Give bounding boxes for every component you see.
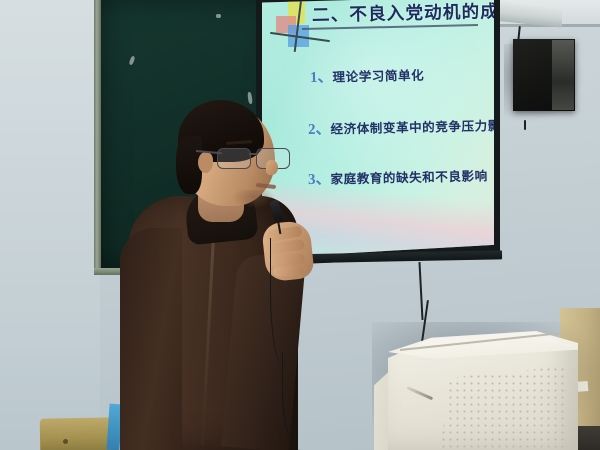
monitor-vent-holes: [440, 366, 568, 450]
wall-cable-right: [524, 120, 526, 130]
bullet-3-number: 3、: [308, 172, 331, 188]
bullet-1-number: 1、: [310, 70, 333, 86]
speaker-bracket: [552, 40, 574, 110]
chair-screw-hole: [63, 439, 68, 444]
chalkboard-frame-left: [94, 0, 101, 274]
presenter-left-shoulder: [120, 228, 182, 450]
wall-left-panel: [0, 0, 100, 450]
glasses-bridge: [249, 153, 258, 155]
slide-bullet-2: 2、经济体制变革中的竞争压力影响: [308, 114, 494, 139]
slide-title: 二、不良入党动机的成因剖析: [312, 0, 494, 27]
slide-bullet-3: 3、家庭教育的缺失和不良影响: [308, 164, 488, 189]
photo-scene: 二、不良入党动机的成因剖析 1、理论学习简单化 2、经济体制变革中的竞争压力影响…: [0, 0, 600, 450]
presenter-nose: [266, 160, 278, 175]
slide-bullet-1: 1、理论学习简单化: [310, 64, 425, 87]
bullet-1-text: 理论学习简单化: [332, 68, 424, 85]
glasses-lens-left: [217, 148, 251, 169]
bullet-3-text: 家庭教育的缺失和不良影响: [330, 168, 487, 186]
presenter-ear: [198, 152, 213, 173]
projection-screen-surface[interactable]: 二、不良入党动机的成因剖析 1、理论学习简单化 2、经济体制变革中的竞争压力影响…: [262, 0, 494, 258]
bullet-2-number: 2、: [308, 122, 331, 138]
bullet-2-text: 经济体制变革中的竞争压力影响: [330, 118, 494, 137]
